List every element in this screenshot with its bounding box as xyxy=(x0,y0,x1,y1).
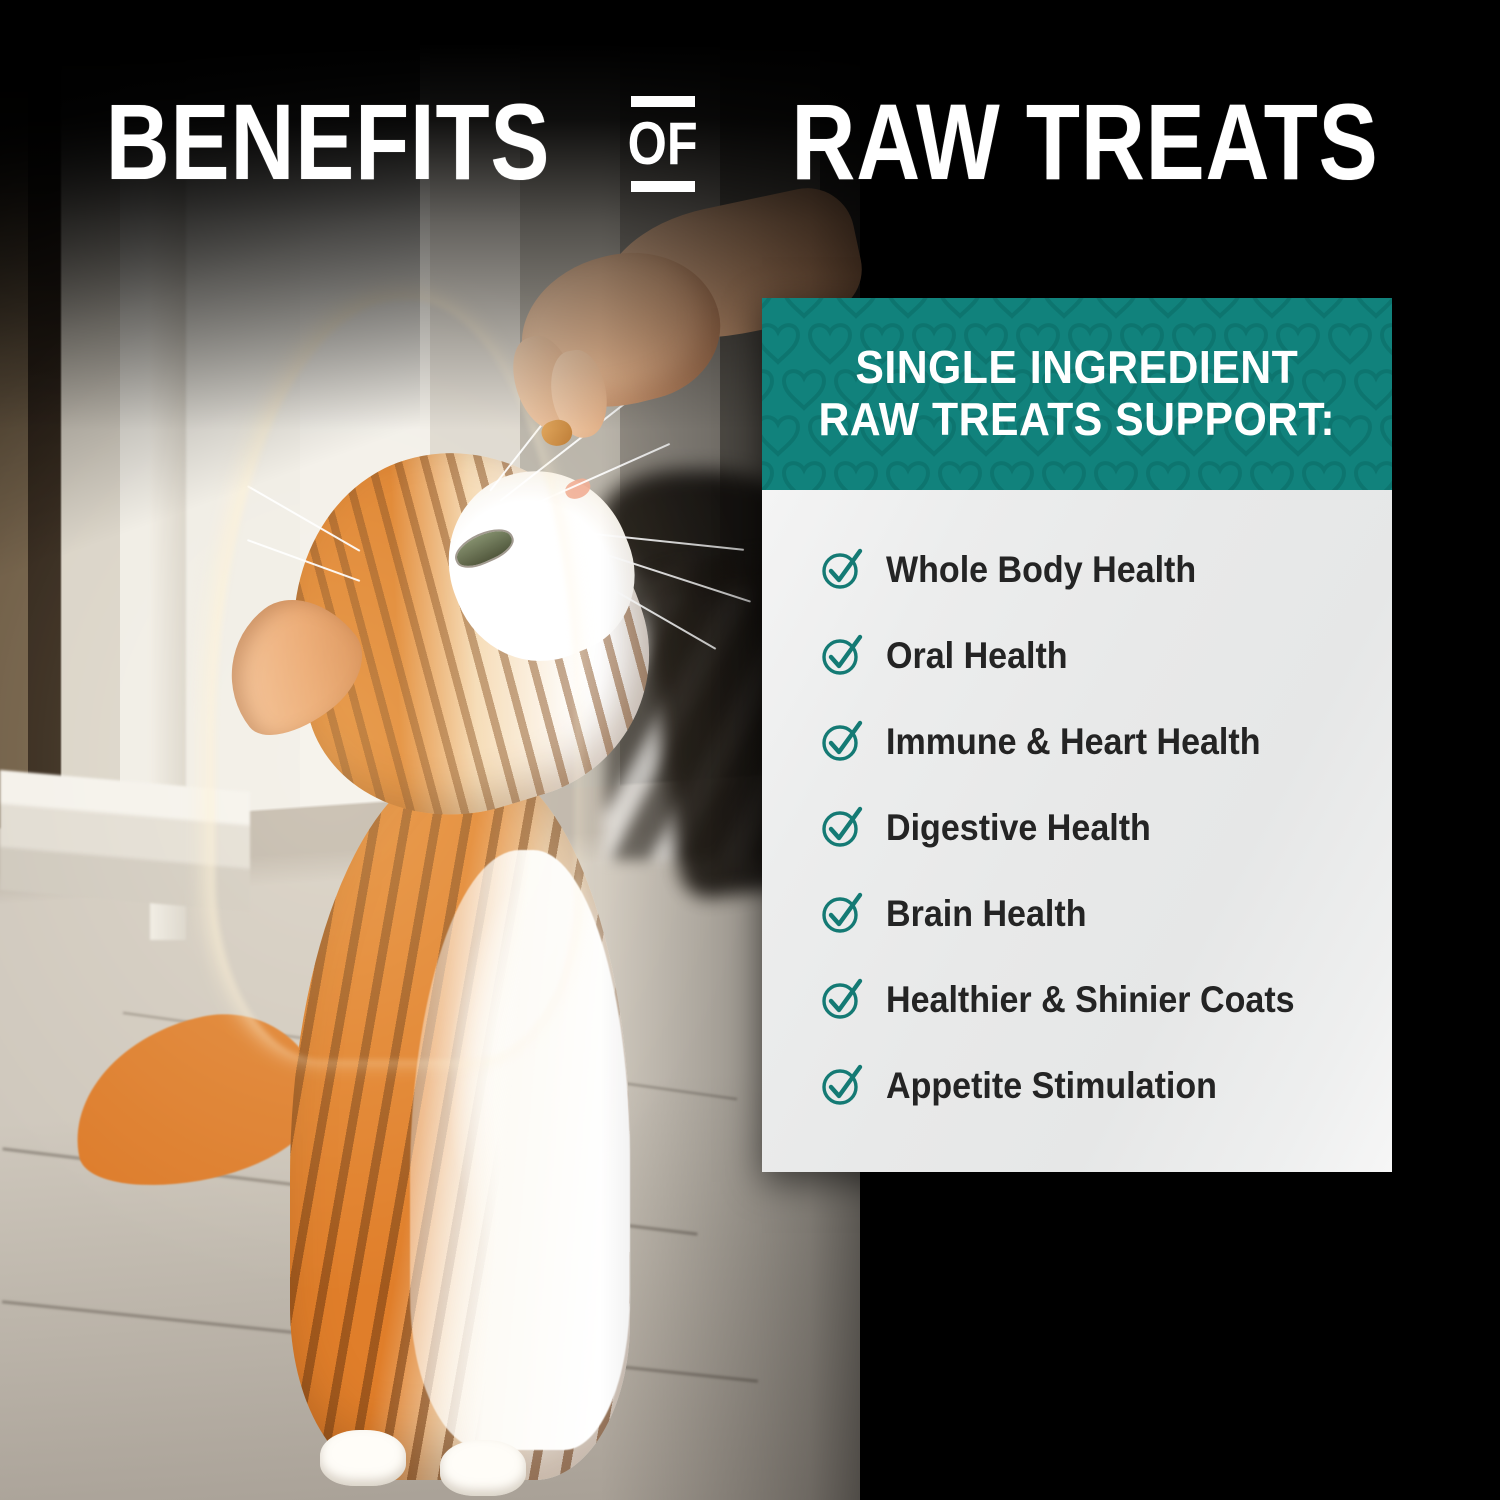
benefits-list: Whole Body Health Oral Health Immune & H… xyxy=(820,526,1368,1128)
headline-rule-top xyxy=(631,96,695,107)
check-circle-icon xyxy=(820,719,864,763)
benefit-label: Brain Health xyxy=(886,895,1087,932)
benefit-label: Healthier & Shinier Coats xyxy=(886,981,1295,1018)
benefits-card: SINGLE INGREDIENT RAW TREATS SUPPORT: Wh… xyxy=(762,298,1392,1172)
card-header-line2: RAW TREATS SUPPORT: xyxy=(819,394,1336,446)
check-circle-icon xyxy=(820,805,864,849)
check-circle-icon xyxy=(820,891,864,935)
benefit-label: Digestive Health xyxy=(886,809,1151,846)
list-item: Appetite Stimulation xyxy=(820,1042,1368,1128)
card-header-text: SINGLE INGREDIENT RAW TREATS SUPPORT: xyxy=(794,342,1359,446)
benefit-label: Immune & Heart Health xyxy=(886,723,1261,760)
check-circle-icon xyxy=(820,1063,864,1107)
check-circle-icon xyxy=(820,547,864,591)
headline-word-benefits: BENEFITS xyxy=(106,88,550,196)
page-title: BENEFITS OF RAW TREATS xyxy=(0,88,1500,196)
card-header-line1: SINGLE INGREDIENT xyxy=(819,342,1336,394)
list-item: Healthier & Shinier Coats xyxy=(820,956,1368,1042)
list-item: Digestive Health xyxy=(820,784,1368,870)
check-circle-icon xyxy=(820,633,864,677)
list-item: Immune & Heart Health xyxy=(820,698,1368,784)
promo-image: BENEFITS OF RAW TREATS xyxy=(0,0,1500,1500)
list-item: Brain Health xyxy=(820,870,1368,956)
benefit-label: Oral Health xyxy=(886,637,1068,674)
list-item: Whole Body Health xyxy=(820,526,1368,612)
list-item: Oral Health xyxy=(820,612,1368,698)
headline-of-label: OF xyxy=(628,107,698,181)
card-header: SINGLE INGREDIENT RAW TREATS SUPPORT: xyxy=(762,298,1392,490)
benefit-label: Appetite Stimulation xyxy=(886,1067,1217,1104)
check-circle-icon xyxy=(820,977,864,1021)
card-body: Whole Body Health Oral Health Immune & H… xyxy=(762,490,1392,1172)
headline-connector: OF xyxy=(621,96,704,192)
headline-rule-bottom xyxy=(631,181,695,192)
benefit-label: Whole Body Health xyxy=(886,551,1196,588)
headline-word-raw-treats: RAW TREATS xyxy=(791,88,1378,196)
